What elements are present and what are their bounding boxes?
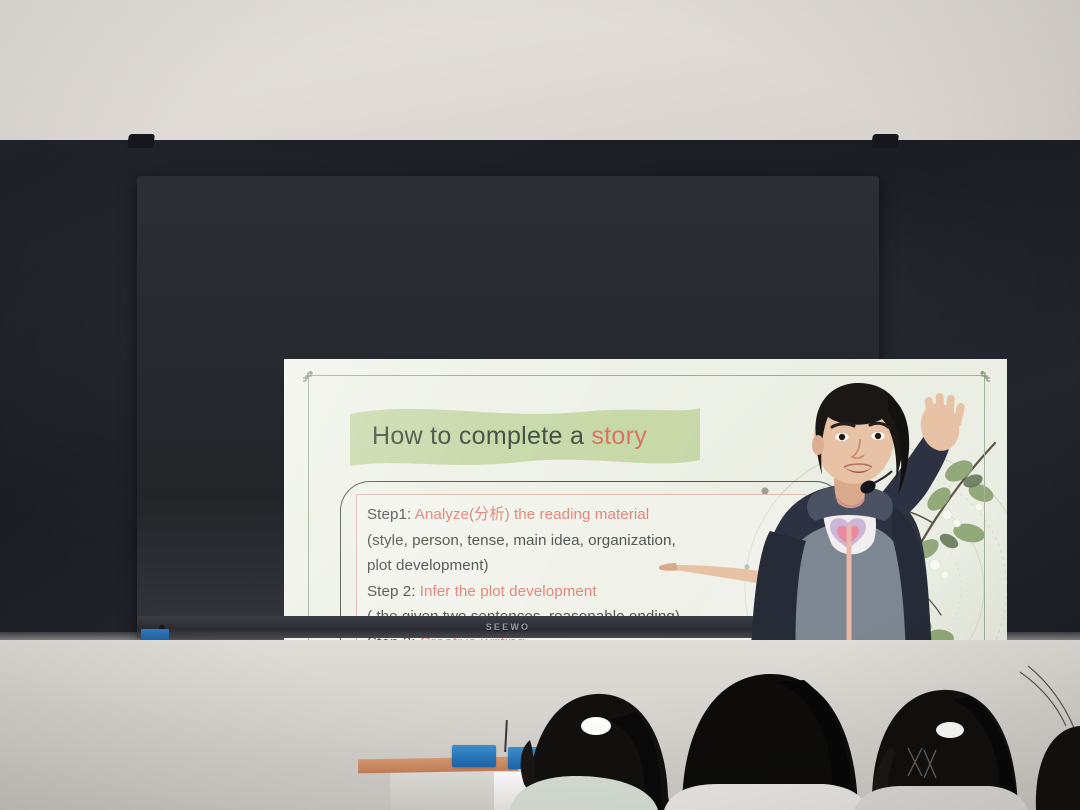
corner-ornament-top-left: [300, 368, 326, 394]
students-row: [480, 600, 1080, 810]
classroom-scene: How to complete a story Step1: Analyze(分…: [0, 0, 1080, 810]
student-center: [664, 674, 868, 810]
title-main: How to complete a: [372, 422, 591, 450]
step-label: Step 2:: [367, 583, 420, 600]
step-label: plot development): [367, 557, 489, 574]
page-title: How to complete a story: [372, 422, 647, 451]
student-far-right: [1036, 726, 1080, 810]
upper-wall: [0, 0, 1080, 152]
blackboard-clip-right: [871, 134, 899, 148]
student-left: [510, 694, 670, 810]
step-accent: Infer the plot development: [420, 583, 597, 600]
student-right: [854, 690, 1028, 810]
step-accent: Analyze(分析) the reading material: [415, 506, 650, 523]
step-label: Step1:: [367, 506, 415, 523]
blackboard-clip-left: [127, 134, 155, 148]
